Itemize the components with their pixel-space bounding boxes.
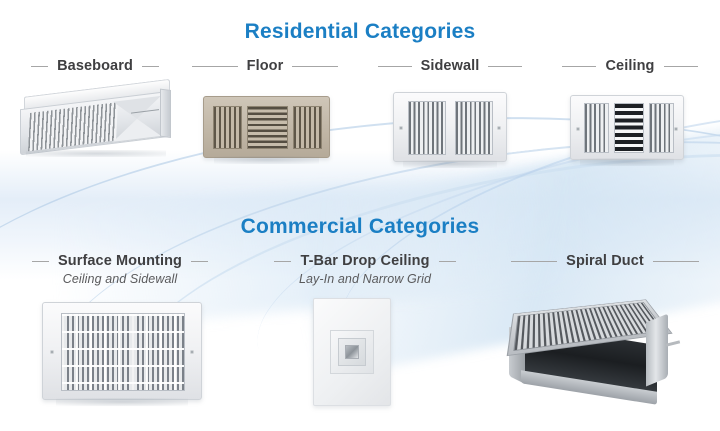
- label-rule-left: [562, 66, 596, 67]
- surface-mount-grille-shadow: [56, 398, 189, 406]
- category-name: Ceiling: [605, 58, 654, 74]
- category-label-baseboard[interactable]: Baseboard: [0, 58, 190, 74]
- baseboard-fins: [28, 102, 118, 151]
- category-label-t-bar-drop-ceiling[interactable]: T-Bar Drop Ceiling Lay-In and Narrow Gri…: [240, 253, 490, 286]
- category-name: Floor: [247, 58, 284, 74]
- category-name: Sidewall: [421, 58, 480, 74]
- sidewall-screw-left: [399, 126, 403, 130]
- product-image-lay-in-diffuser[interactable]: [313, 298, 391, 406]
- product-image-surface-mount-grille[interactable]: [42, 302, 202, 400]
- category-name: Baseboard: [57, 58, 133, 74]
- product-image-sidewall-register[interactable]: [393, 92, 507, 162]
- label-rule-left: [511, 261, 557, 262]
- lay-in-diffuser-icon: [313, 298, 391, 406]
- label-rule-right: [191, 261, 208, 262]
- surface-mount-screw-right: [190, 350, 194, 354]
- sidewall-register-left-louvers: [408, 101, 446, 155]
- label-rule-left: [274, 261, 291, 262]
- product-image-floor-register[interactable]: [203, 96, 330, 158]
- category-label-spiral-duct[interactable]: Spiral Duct: [490, 253, 720, 269]
- category-subtitle: Lay-In and Narrow Grid: [240, 272, 490, 286]
- label-rule-left: [31, 66, 48, 67]
- category-label-sidewall[interactable]: Sidewall: [360, 58, 540, 74]
- ceiling-screw-right: [674, 127, 678, 131]
- sidewall-register-right-louvers: [455, 101, 493, 155]
- floor-register-shadow: [214, 156, 319, 164]
- ceiling-register-center-louvers: [614, 103, 644, 153]
- category-label-floor[interactable]: Floor: [175, 58, 355, 74]
- product-image-baseboard-diffuser[interactable]: [20, 88, 170, 156]
- surface-mount-screw-left: [50, 350, 54, 354]
- floor-register-left-louvers: [213, 106, 242, 149]
- label-rule-right: [292, 66, 338, 67]
- label-rule-right: [664, 66, 698, 67]
- category-name: Surface Mounting: [58, 253, 182, 269]
- product-image-ceiling-register[interactable]: [570, 95, 684, 160]
- ceiling-register-icon: [570, 95, 684, 160]
- sidewall-register-shadow: [403, 160, 497, 168]
- spiral-duct-grille-icon: [495, 290, 680, 400]
- label-rule-right: [142, 66, 159, 67]
- label-rule-left: [192, 66, 238, 67]
- category-name: Spiral Duct: [566, 253, 644, 269]
- category-name: T-Bar Drop Ceiling: [300, 253, 429, 269]
- category-label-ceiling[interactable]: Ceiling: [540, 58, 720, 74]
- surface-mount-grille-icon: [42, 302, 202, 400]
- label-rule-left: [32, 261, 49, 262]
- commercial-section-title: Commercial Categories: [0, 215, 720, 239]
- category-subtitle: Ceiling and Sidewall: [0, 272, 240, 286]
- ceiling-register-shadow: [580, 158, 674, 166]
- ceiling-register-left-louvers: [584, 103, 609, 153]
- floor-register-center-louvers: [247, 106, 288, 149]
- surface-mount-grille-blades: [61, 313, 185, 391]
- floor-register-right-louvers: [293, 106, 322, 149]
- spiral-duct-right-flange: [646, 314, 668, 387]
- category-label-surface-mounting[interactable]: Surface Mounting Ceiling and Sidewall: [0, 253, 240, 286]
- category-overview-page: Residential Categories Baseboard Floor S…: [0, 0, 720, 431]
- baseboard-shadow: [26, 150, 166, 157]
- baseboard-damper-triangle: [113, 96, 161, 142]
- label-rule-right: [488, 66, 522, 67]
- ceiling-screw-left: [576, 127, 580, 131]
- product-image-spiral-duct-grille[interactable]: [495, 290, 680, 400]
- lay-in-diffuser-core: [345, 345, 359, 359]
- floor-register-icon: [203, 96, 330, 158]
- label-rule-left: [378, 66, 412, 67]
- sidewall-screw-right: [497, 126, 501, 130]
- residential-section-title: Residential Categories: [0, 20, 720, 44]
- label-rule-right: [439, 261, 456, 262]
- label-rule-right: [653, 261, 699, 262]
- ceiling-register-right-louvers: [649, 103, 674, 153]
- sidewall-register-icon: [393, 92, 507, 162]
- baseboard-end-cap: [160, 89, 171, 138]
